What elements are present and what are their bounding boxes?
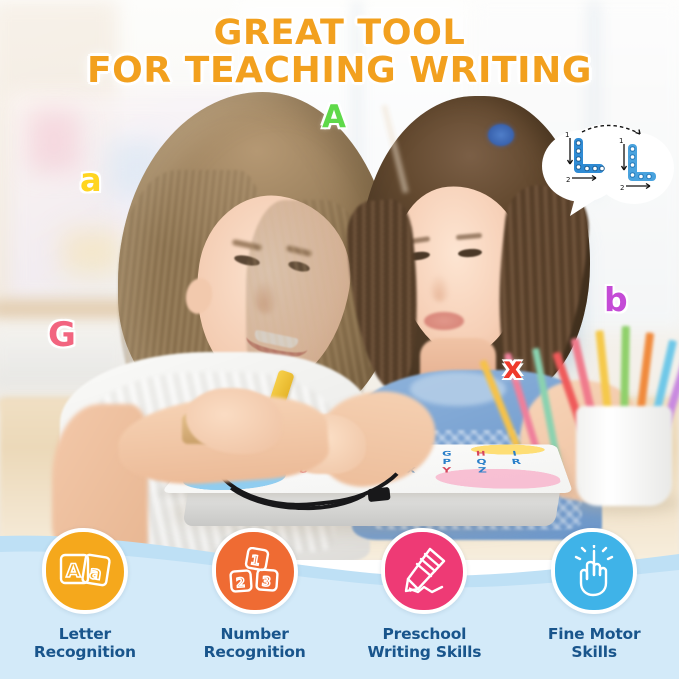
feature-icon-circle-2: 1 2 3 bbox=[212, 528, 298, 614]
feature-label-1-line2: Recognition bbox=[34, 643, 136, 661]
feature-label-1: Letter Recognition bbox=[34, 625, 136, 661]
number-blocks-icon: 1 2 3 bbox=[229, 547, 281, 595]
floating-letter-b: b bbox=[604, 283, 628, 316]
stroke-number-2-left: 2 bbox=[566, 176, 570, 184]
letter-cards-icon: A a bbox=[58, 549, 112, 593]
girl-hair-tie bbox=[488, 124, 514, 146]
feature-list: A a Letter Recognition 1 2 bbox=[0, 514, 679, 679]
board-letter: Y bbox=[430, 466, 464, 474]
feature-icon-circle-1: A a bbox=[42, 528, 128, 614]
feature-label-2-line2: Recognition bbox=[204, 643, 306, 661]
board-letter: R bbox=[499, 458, 533, 466]
girl-lips bbox=[424, 312, 464, 330]
girl-nose bbox=[430, 274, 450, 302]
tap-hand-icon bbox=[569, 545, 619, 597]
feature-letter-recognition[interactable]: A a Letter Recognition bbox=[0, 514, 170, 679]
pen-cord-clip bbox=[367, 487, 390, 502]
feature-icon-circle-4 bbox=[551, 528, 637, 614]
feature-icon-circle-3 bbox=[381, 528, 467, 614]
board-letter: P bbox=[430, 458, 463, 466]
board-letter bbox=[501, 466, 536, 474]
feature-label-2-line1: Number bbox=[221, 625, 289, 643]
lifestyle-photo: ABCDEFGHIJKLMNOPQRSTUVWXYZ bbox=[0, 0, 679, 560]
icon-number-1: 1 bbox=[249, 553, 261, 569]
feature-label-1-line1: Letter bbox=[59, 625, 111, 643]
feature-label-2: Number Recognition bbox=[204, 625, 306, 661]
feature-label-3-line2: Writing Skills bbox=[367, 643, 481, 661]
pencil-icon bbox=[398, 545, 450, 597]
board-letter: Q bbox=[465, 458, 499, 466]
feature-preschool-writing-skills[interactable]: Preschool Writing Skills bbox=[340, 514, 510, 679]
wall-art-1 bbox=[28, 110, 80, 172]
icon-number-2: 2 bbox=[235, 576, 245, 592]
feature-number-recognition[interactable]: 1 2 3 Number Recognition bbox=[170, 514, 340, 679]
pencil-cup bbox=[576, 406, 672, 506]
icon-letter-A: A bbox=[66, 560, 81, 582]
stroke-number-1-right: 1 bbox=[619, 137, 623, 145]
bubble-shape bbox=[542, 124, 674, 216]
wall-art-4 bbox=[62, 230, 122, 274]
icon-letter-a: a bbox=[88, 562, 103, 585]
board-letter: Z bbox=[465, 466, 499, 474]
board-letter: H bbox=[465, 450, 498, 457]
product-marketing-image: ABCDEFGHIJKLMNOPQRSTUVWXYZ GREAT TOOL FO… bbox=[0, 0, 679, 679]
feature-label-4: Fine Motor Skills bbox=[548, 625, 641, 661]
icon-number-3: 3 bbox=[261, 575, 271, 591]
floating-letter-a: a bbox=[80, 164, 102, 196]
stroke-number-1-left: 1 bbox=[565, 131, 569, 139]
floating-letter-g: G bbox=[48, 318, 76, 352]
feature-fine-motor-skills[interactable]: Fine Motor Skills bbox=[509, 514, 679, 679]
board-letter: I bbox=[498, 450, 531, 457]
floating-letter-a-upper: A bbox=[322, 102, 346, 133]
feature-label-3-line1: Preschool bbox=[382, 625, 466, 643]
feature-label-4-line2: Skills bbox=[571, 643, 616, 661]
feature-label-3: Preschool Writing Skills bbox=[367, 625, 481, 661]
board-letter: G bbox=[431, 450, 463, 457]
feature-label-4-line1: Fine Motor bbox=[548, 625, 641, 643]
floating-letter-x: x bbox=[503, 354, 522, 384]
stroke-number-2-right: 2 bbox=[620, 184, 624, 192]
speech-bubble-letter-tracing: 1 2 1 2 bbox=[540, 120, 676, 216]
